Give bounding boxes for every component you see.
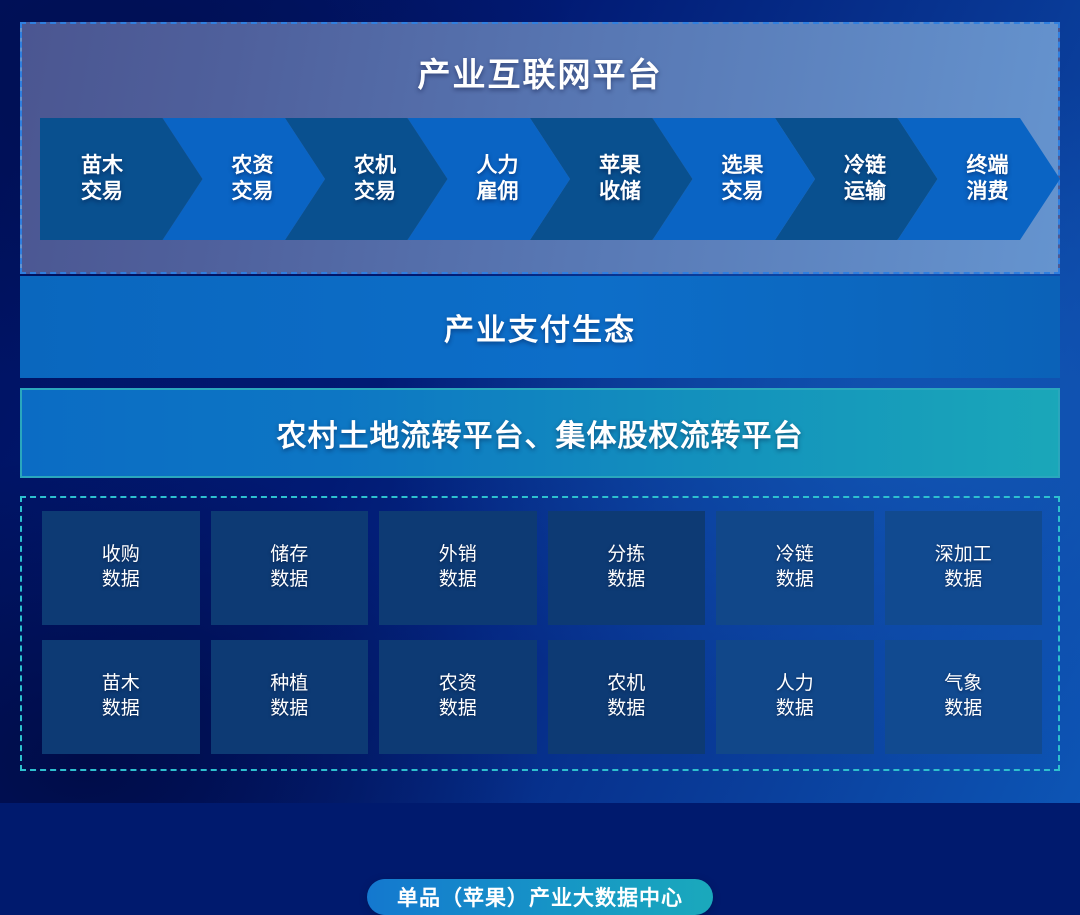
land-transfer-platform-band: 农村土地流转平台、集体股权流转平台 [20,388,1060,478]
chevron-step-label: 农机 交易 [327,153,423,204]
data-card-label: 收购 数据 [102,543,140,592]
data-card[interactable]: 苗木 数据 [42,640,200,754]
big-data-center-panel: 收购 数据储存 数据外销 数据分拣 数据冷链 数据深加工 数据 苗木 数据种植 … [20,496,1060,771]
chevron-step-label: 人力 雇佣 [450,153,546,204]
data-card[interactable]: 农资 数据 [379,640,537,754]
data-card[interactable]: 分拣 数据 [548,511,706,625]
data-card-label: 农机 数据 [607,672,645,721]
data-card[interactable]: 气象 数据 [885,640,1043,754]
data-card-label: 农资 数据 [439,672,477,721]
data-card-label: 分拣 数据 [607,543,645,592]
data-card-row-top: 收购 数据储存 数据外销 数据分拣 数据冷链 数据深加工 数据 [42,511,1042,625]
data-card-label: 外销 数据 [439,543,477,592]
data-card[interactable]: 种植 数据 [211,640,369,754]
page-title: 产业互联网平台 [22,48,1058,96]
data-card-label: 深加工 数据 [935,543,992,592]
data-card[interactable]: 储存 数据 [211,511,369,625]
diagram-canvas: 产业互联网平台 苗木 交易农资 交易农机 交易人力 雇佣苹果 收储选果 交易冷链… [0,0,1080,803]
data-card[interactable]: 冷链 数据 [716,511,874,625]
chevron-step-label: 选果 交易 [695,153,791,204]
chevron-step-label: 苹果 收储 [572,153,668,204]
data-card[interactable]: 收购 数据 [42,511,200,625]
big-data-center-badge: 单品（苹果）产业大数据中心 [367,879,713,915]
data-card[interactable]: 农机 数据 [548,640,706,754]
data-card-row-bottom: 苗木 数据种植 数据农资 数据农机 数据人力 数据气象 数据 [42,640,1042,754]
data-card[interactable]: 外销 数据 [379,511,537,625]
data-card-label: 冷链 数据 [776,543,814,592]
chevron-step-label: 冷链 运输 [817,153,913,204]
chevron-step-label: 终端 消费 [940,153,1036,204]
data-card[interactable]: 人力 数据 [716,640,874,754]
value-chain-chevron-row: 苗木 交易农资 交易农机 交易人力 雇佣苹果 收储选果 交易冷链 运输终端 消费 [40,118,1044,240]
data-card-label: 人力 数据 [776,672,814,721]
chevron-step-label: 农资 交易 [205,153,301,204]
data-card-label: 储存 数据 [270,543,308,592]
payment-ecosystem-band: 产业支付生态 [20,276,1060,378]
land-transfer-platform-label: 农村土地流转平台、集体股权流转平台 [277,411,804,455]
data-card-label: 种植 数据 [270,672,308,721]
data-card[interactable]: 深加工 数据 [885,511,1043,625]
industry-internet-platform-panel: 产业互联网平台 苗木 交易农资 交易农机 交易人力 雇佣苹果 收储选果 交易冷链… [20,22,1060,274]
data-card-label: 气象 数据 [944,672,982,721]
data-card-label: 苗木 数据 [102,672,140,721]
payment-ecosystem-label: 产业支付生态 [444,305,636,349]
chevron-step-label: 苗木 交易 [54,153,150,204]
